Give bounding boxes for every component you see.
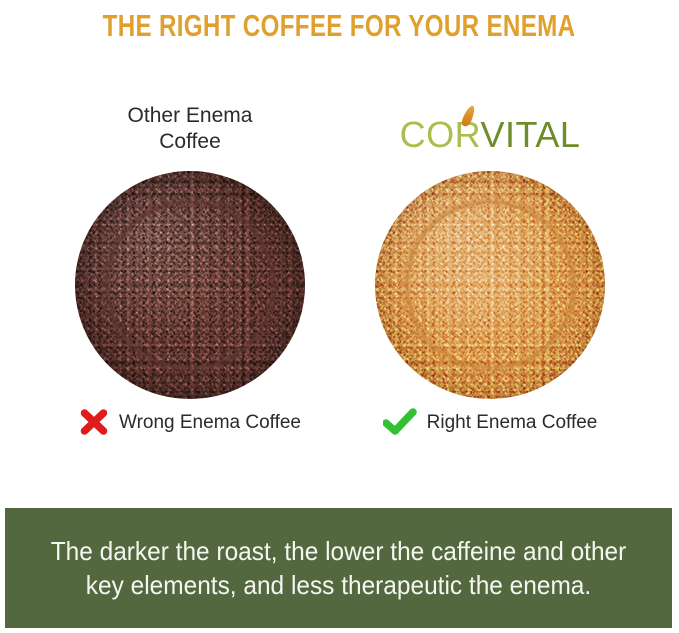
banner-message: The darker the roast, the lower the caff… [49, 534, 627, 602]
page-title-bar: THE RIGHT COFFEE FOR YOUR ENEMA [0, 4, 679, 46]
light-coffee-pile [375, 171, 605, 399]
grain-texture-dots [75, 171, 305, 399]
logo-text-vital: VITAL [480, 114, 580, 155]
verdict-row-right: Right Enema Coffee [340, 401, 640, 443]
dark-coffee-pile [75, 171, 305, 399]
verdict-row-wrong: Wrong Enema Coffee [40, 401, 340, 443]
cross-icon [79, 408, 109, 436]
comparison-column-other: Other Enema Coffee Wrong Enema Coffee [40, 95, 340, 445]
verdict-label-right: Right Enema Coffee [427, 413, 598, 432]
comparison-section: Other Enema Coffee Wrong Enema Coffee CO… [0, 95, 679, 445]
check-icon [383, 408, 417, 436]
comparison-column-corvital: CORVITAL Right Enema Coffee [340, 95, 640, 445]
bottom-banner: The darker the roast, the lower the caff… [5, 508, 672, 628]
other-coffee-heading: Other Enema Coffee [40, 103, 340, 155]
verdict-label-wrong: Wrong Enema Coffee [119, 413, 301, 432]
page-title: THE RIGHT COFFEE FOR YOUR ENEMA [103, 10, 576, 41]
corvital-logo: CORVITAL [340, 107, 640, 163]
grain-texture-dots [375, 171, 605, 399]
